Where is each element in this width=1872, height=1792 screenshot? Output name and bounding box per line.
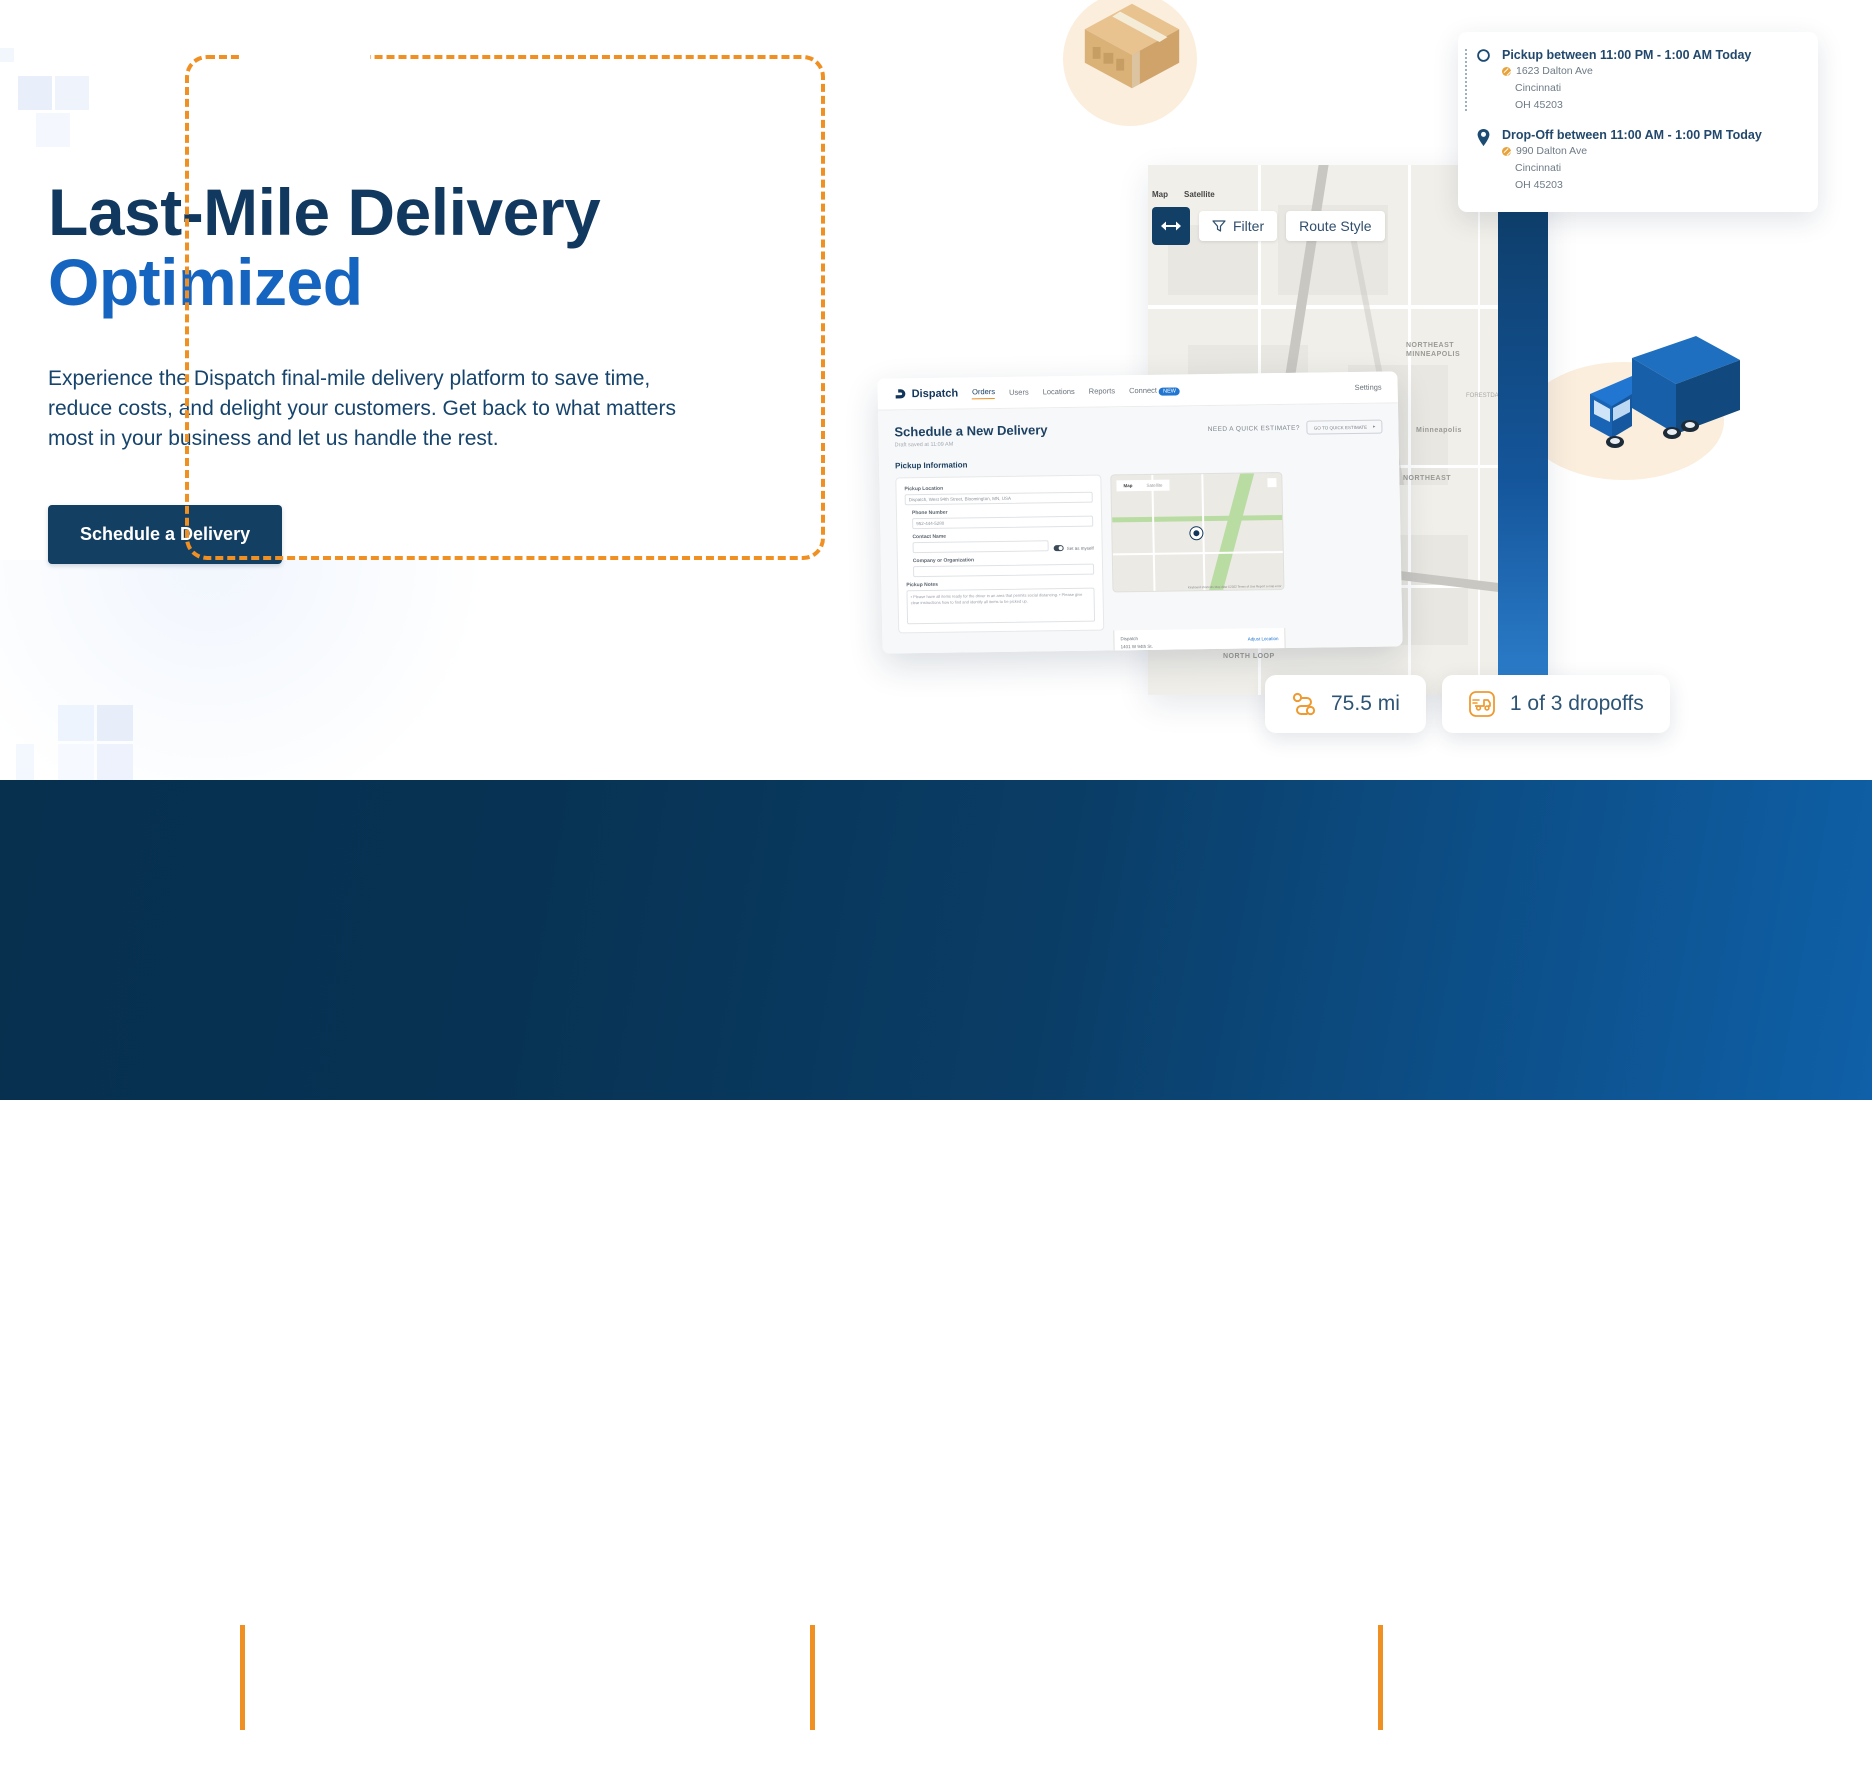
pickup-map-wrapper: Map Satellite Keyboard shortcuts Map dat… [1110, 472, 1285, 630]
map-label: NORTHEAST [1403, 475, 1451, 482]
map-type-tabs[interactable]: Map Satellite [1152, 190, 1215, 199]
resize-arrows-glyph [1160, 220, 1182, 232]
stats-bar: 53k+ Businesses Served 75M+ Customer Mil… [0, 780, 1872, 1100]
map-label: NORTH LOOP [1223, 653, 1275, 660]
dropoff-pin-icon [1476, 128, 1492, 194]
decorative-square [18, 76, 52, 110]
satellite-tab[interactable]: Satellite [1184, 190, 1215, 199]
company-label: Company or Organization [913, 556, 1094, 565]
decorative-square [16, 744, 34, 780]
dropoff-truck-icon [1468, 690, 1496, 718]
package-box-icon [1073, 0, 1191, 104]
decorative-square [36, 113, 70, 147]
pickup-city: Cincinnati [1515, 80, 1751, 97]
filter-button[interactable]: Filter [1199, 211, 1277, 241]
filter-label: Filter [1233, 218, 1264, 234]
map-label: NORTHEAST MINNEAPOLIS [1406, 341, 1476, 359]
stat-label: Businesses Served [267, 1768, 460, 1792]
pickup-address: 1623 Dalton Ave [1516, 63, 1593, 80]
mini-map-tabs[interactable]: Map Satellite [1116, 480, 1169, 492]
route-stats-chips: 75.5 mi 1 of 3 dropoffs [1265, 675, 1670, 733]
route-style-label: Route Style [1299, 218, 1371, 234]
address-marker-icon [1502, 67, 1511, 76]
map-side-gradient [1498, 211, 1548, 695]
set-as-myself-toggle[interactable]: Set as myself [1054, 545, 1094, 552]
dashboard-settings-menu[interactable]: Settings [1354, 383, 1381, 392]
dispatch-logo-icon[interactable]: Dispatch [894, 387, 959, 401]
decorative-square [97, 744, 133, 780]
stat-businesses-served: 53k+ Businesses Served [240, 1625, 460, 1792]
decorative-square [55, 76, 89, 110]
dashboard-nav-users[interactable]: Users [1009, 388, 1029, 397]
map-toolbar: Filter Route Style [1152, 207, 1385, 245]
connect-new-badge: NEW [1159, 387, 1180, 395]
mini-map-credits: Keyboard shortcuts Map data ©2022 Terms … [1188, 584, 1282, 589]
pickup-circle-icon [1476, 48, 1492, 114]
quick-estimate-button-label: GO TO QUICK ESTIMATE [1314, 424, 1367, 430]
mini-map-tab[interactable]: Map [1116, 480, 1139, 491]
dropoff-pin-glyph [1476, 128, 1491, 147]
contact-name-label: Contact Name [912, 532, 1093, 541]
pickup-mini-map[interactable]: Map Satellite Keyboard shortcuts Map dat… [1110, 472, 1284, 592]
decorative-square [97, 705, 133, 741]
quick-estimate-label: NEED A QUICK ESTIMATE? [1208, 424, 1300, 432]
dropoffs-label: 1 of 3 dropoffs [1510, 692, 1644, 716]
contact-name-input[interactable] [913, 540, 1049, 553]
phone-number-input[interactable]: 952-444-5280 [912, 516, 1093, 530]
pickup-stop: Pickup between 11:00 PM - 1:00 AM Today … [1476, 48, 1800, 114]
dashboard-nav-connect[interactable]: Connect NEW [1129, 385, 1180, 395]
pickup-address-row: 1623 Dalton Ave [1502, 63, 1751, 80]
company-input[interactable] [913, 564, 1094, 578]
dashboard-nav-locations[interactable]: Locations [1043, 387, 1075, 396]
filter-funnel-icon [1212, 219, 1226, 233]
dropoff-stop: Drop-Off between 11:00 AM - 1:00 PM Toda… [1476, 128, 1800, 194]
stop-connector-line [1465, 49, 1467, 111]
route-style-button[interactable]: Route Style [1286, 211, 1384, 241]
quick-estimate-button[interactable]: GO TO QUICK ESTIMATE ▸ [1307, 420, 1383, 435]
dispatch-mark-glyph [894, 387, 907, 400]
dashboard-nav-reports[interactable]: Reports [1089, 386, 1115, 395]
dropoff-state-zip: OH 45203 [1515, 177, 1762, 194]
pickup-notes-textarea[interactable]: • Please have all items ready for the dr… [906, 588, 1095, 625]
decorative-square [58, 744, 94, 780]
mini-satellite-tab[interactable]: Satellite [1139, 480, 1169, 491]
pickup-location-input[interactable]: Dispatch, West 94th Street, Bloomington,… [905, 492, 1093, 506]
chevron-right-icon: ▸ [1373, 424, 1375, 430]
pickup-information-heading: Pickup Information [895, 455, 1383, 471]
stat-label: Customer Miles Saved [837, 1768, 1061, 1792]
toggle-switch-icon [1054, 545, 1064, 551]
fullscreen-icon[interactable] [1267, 478, 1276, 487]
decorative-square [58, 705, 94, 741]
address-marker-icon [1502, 147, 1511, 156]
distance-chip[interactable]: 75.5 mi [1265, 675, 1426, 733]
pickup-title: Pickup between 11:00 PM - 1:00 AM Today [1502, 48, 1751, 63]
connect-label: Connect [1129, 386, 1157, 395]
route-gap-mask [240, 40, 370, 76]
adjust-location-link[interactable]: Adjust Location [1248, 635, 1279, 643]
pickup-form: Pickup Location Dispatch, West 94th Stre… [895, 475, 1104, 634]
phone-number-label: Phone Number [912, 508, 1093, 517]
route-icon [1291, 691, 1317, 717]
quick-estimate-group: NEED A QUICK ESTIMATE? GO TO QUICK ESTIM… [1208, 420, 1383, 436]
dropoff-title: Drop-Off between 11:00 AM - 1:00 PM Toda… [1502, 128, 1762, 143]
stat-value: 75M+ [810, 1625, 1061, 1730]
stop-details-card: Pickup between 11:00 PM - 1:00 AM Today … [1458, 32, 1818, 212]
form-columns: Pickup Location Dispatch, West 94th Stre… [895, 471, 1386, 634]
pickup-state-zip: OH 45203 [1515, 97, 1751, 114]
dashboard-body: Schedule a New Delivery Draft saved at 1… [878, 403, 1403, 653]
dropoff-address-row: 990 Dalton Ave [1502, 143, 1762, 160]
dashboard-brand: Dispatch [912, 387, 959, 400]
pickup-location-label: Pickup Location [904, 484, 1092, 493]
map-label: Minneapolis [1416, 427, 1462, 434]
dashboard-nav-orders[interactable]: Orders [972, 387, 995, 399]
stat-label: Average Driver Pay [1405, 1768, 1597, 1792]
dashed-route-path [185, 55, 825, 560]
set-as-myself-label: Set as myself [1067, 545, 1094, 550]
map-tab[interactable]: Map [1152, 190, 1168, 199]
hero-section: Last-Mile Delivery Optimized Experience … [0, 0, 1872, 780]
dropoff-address: 990 Dalton Ave [1516, 143, 1587, 160]
stat-customer-miles-saved: 75M+ Customer Miles Saved [810, 1625, 1061, 1792]
stat-value: 53k+ [240, 1625, 460, 1730]
delivery-truck-icon [1568, 322, 1748, 472]
resize-horizontal-icon[interactable] [1152, 207, 1190, 245]
decorative-square [0, 48, 14, 62]
distance-label: 75.5 mi [1331, 692, 1400, 716]
pickup-notes-label: Pickup Notes [906, 580, 1094, 589]
map-location-pin-icon [1190, 527, 1202, 539]
schedule-delivery-dashboard[interactable]: Dispatch Orders Users Locations Reports … [877, 371, 1402, 653]
dropoff-city: Cincinnati [1515, 160, 1762, 177]
stat-value: $316 [1378, 1625, 1597, 1730]
stat-average-driver-pay: $316 Average Driver Pay [1378, 1625, 1597, 1792]
dropoffs-chip[interactable]: 1 of 3 dropoffs [1442, 675, 1670, 733]
pickup-circle-glyph [1476, 48, 1491, 63]
